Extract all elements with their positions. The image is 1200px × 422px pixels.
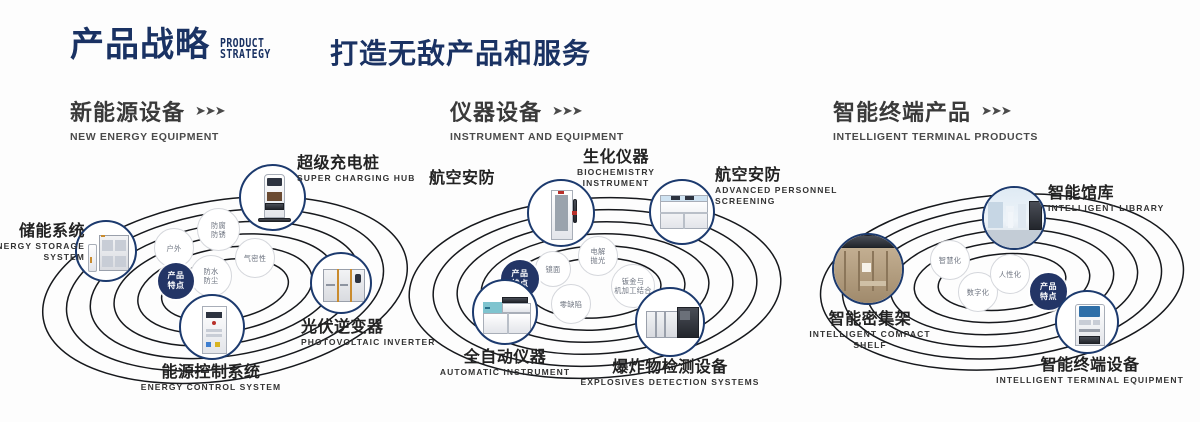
section-title-cn: 智能终端产品 xyxy=(833,95,971,127)
feature-bubble: 防腐防锈 xyxy=(197,208,240,251)
node-caption-aviation-security-left: 航空安防 xyxy=(305,169,495,187)
section-title-new-energy: 新能源设备 ➤➤➤ NEW ENERGY EQUIPMENT xyxy=(70,95,225,143)
core-badge-product-features: 产品特点 xyxy=(158,263,194,299)
cluster-instrument: 镜面 电解抛光 零缺陷 钣金与机加工结合 产品特点 生化仪器 xyxy=(395,160,795,410)
node-explosives-detection-system[interactable] xyxy=(635,287,705,357)
node-caption-intelligent-compact-shelf: 智能密集架 INTELLIGENT COMPACT SHELF xyxy=(775,310,965,351)
cluster-new-energy: 户外 防腐防锈 防水防尘 气密性 产品特点 xyxy=(20,160,420,410)
node-caption-energy-control-system: 能源控制系统 ENERGY CONTROL SYSTEM xyxy=(116,363,306,393)
feature-bubble: 户外 xyxy=(154,228,194,268)
section-title-cn: 仪器设备 xyxy=(450,95,542,127)
chevron-right-icon: ➤➤➤ xyxy=(195,104,225,119)
node-caption-energy-storage-system: 储能系统 ENERGY STORAGE SYSTEM xyxy=(0,222,85,263)
feature-bubble: 防水防尘 xyxy=(190,255,232,297)
node-intelligent-library[interactable] xyxy=(982,186,1046,250)
feature-bubble: 零缺陷 xyxy=(551,284,591,324)
section-title-intelligent-terminal: 智能终端产品 ➤➤➤ INTELLIGENT TERMINAL PRODUCTS xyxy=(833,95,1038,143)
chevron-right-icon: ➤➤➤ xyxy=(981,104,1011,119)
section-title-instrument: 仪器设备 ➤➤➤ INSTRUMENT AND EQUIPMENT xyxy=(450,95,624,143)
page-title-en-line2: STRATEGY xyxy=(220,49,271,60)
page-title: 产品战略 xyxy=(70,28,210,62)
poster-canvas: 产品战略 PRODUCT STRATEGY 打造无敌产品和服务 新能源设备 ➤➤… xyxy=(0,0,1200,422)
node-intelligent-compact-shelf[interactable] xyxy=(832,233,904,305)
section-title-en: INSTRUMENT AND EQUIPMENT xyxy=(450,131,624,143)
chevron-right-icon: ➤➤➤ xyxy=(552,104,582,119)
section-title-en: NEW ENERGY EQUIPMENT xyxy=(70,131,225,143)
node-super-charging-hub[interactable] xyxy=(239,164,306,231)
page-title-en: PRODUCT STRATEGY xyxy=(220,38,271,60)
section-title-cn: 新能源设备 xyxy=(70,95,185,127)
feature-bubble: 智慧化 xyxy=(930,240,970,280)
feature-bubble: 气密性 xyxy=(235,238,275,278)
node-caption-automatic-instrument: 全自动仪器 AUTOMATIC INSTRUMENT xyxy=(410,348,600,378)
feature-bubble: 人性化 xyxy=(990,254,1030,294)
node-energy-control-system[interactable] xyxy=(179,294,245,360)
node-caption-intelligent-library: 智能馆库 INTELLIGENT LIBRARY xyxy=(1048,184,1200,214)
feature-bubble: 镜面 xyxy=(535,251,571,287)
node-caption-intelligent-terminal-equipment: 智能终端设备 INTELLIGENT TERMINAL EQUIPMENT xyxy=(995,356,1185,386)
node-intelligent-terminal-equipment[interactable] xyxy=(1055,290,1119,354)
node-automatic-instrument[interactable] xyxy=(472,279,538,345)
section-title-en: INTELLIGENT TERMINAL PRODUCTS xyxy=(833,131,1038,143)
page-slogan: 打造无敌产品和服务 xyxy=(330,32,591,72)
node-caption-explosives-detection-system: 爆炸物检测设备 EXPLOSIVES DETECTION SYSTEMS xyxy=(575,358,765,388)
node-advanced-personnel-screening[interactable] xyxy=(649,179,715,245)
cluster-intelligent-terminal: 智慧化 数字化 人性化 产品特点 智能馆库 xyxy=(790,160,1190,410)
node-biochemistry-instrument[interactable] xyxy=(527,179,595,247)
poster-header: 产品战略 PRODUCT STRATEGY xyxy=(70,28,282,62)
node-photovoltaic-inverter[interactable] xyxy=(310,252,372,314)
